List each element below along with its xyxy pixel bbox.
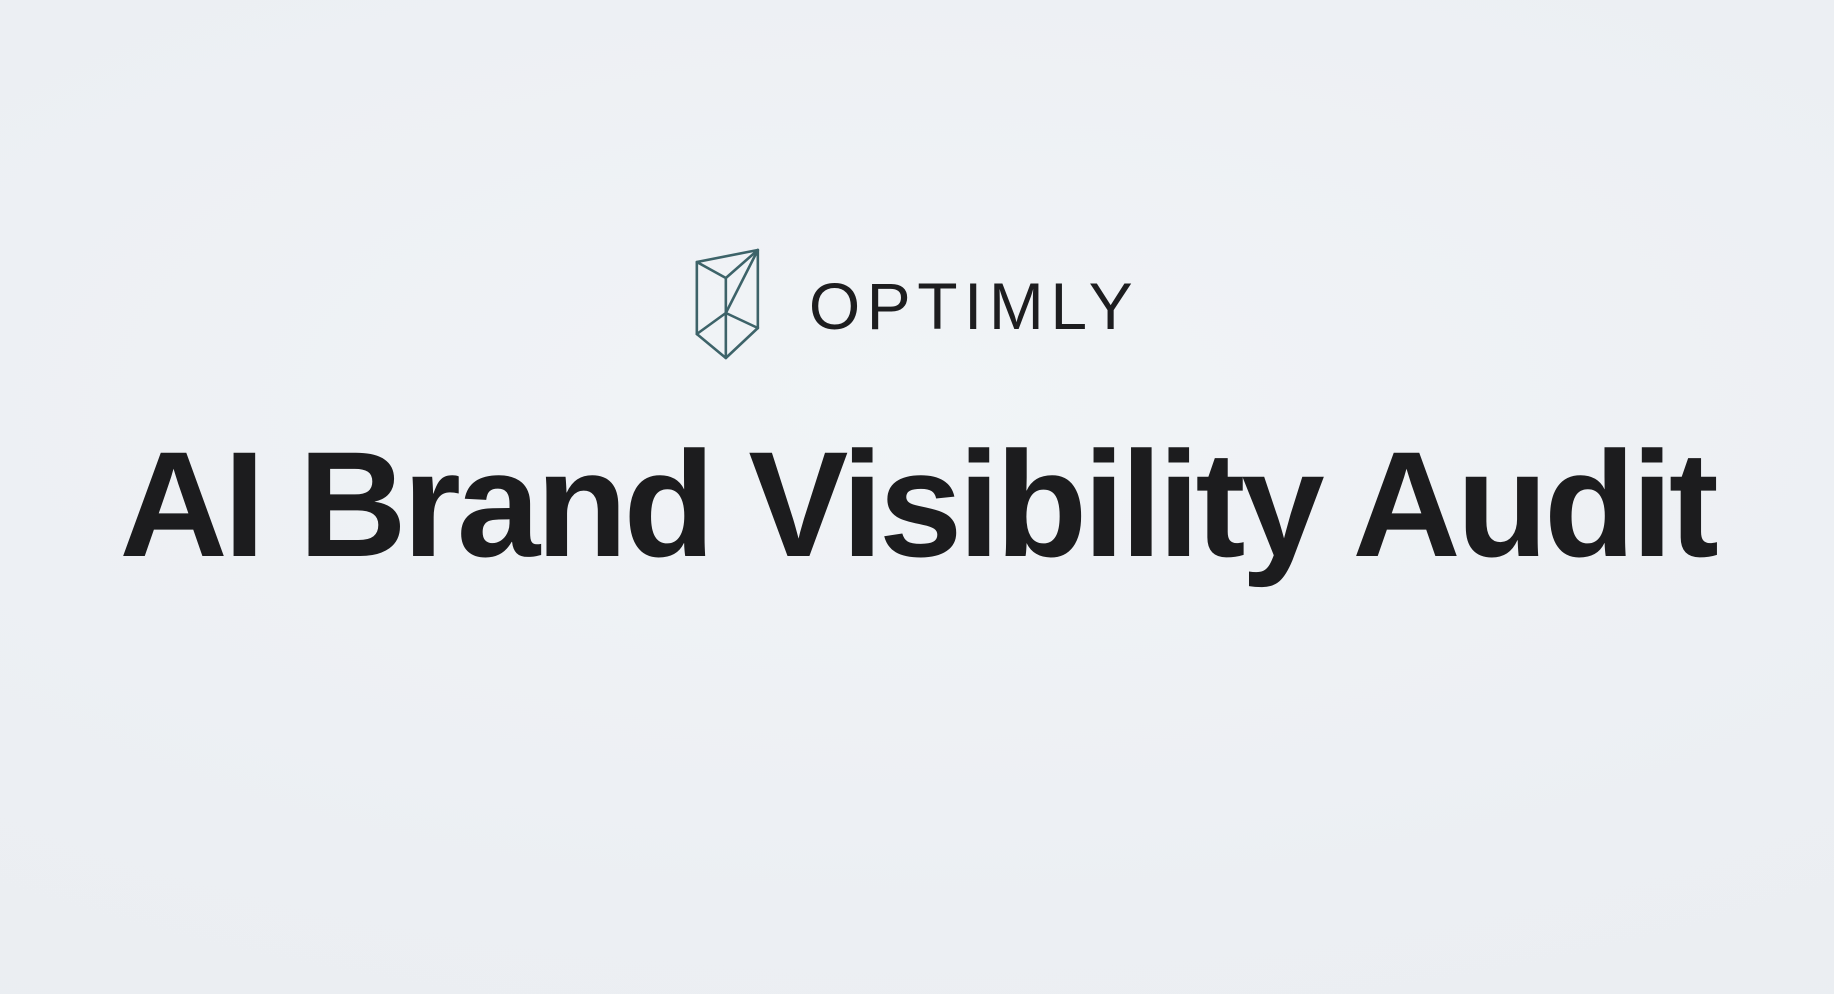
brand-lockup: OPTIMLY	[695, 245, 1139, 363]
title-slide: OPTIMLY AI Brand Visibility Audit	[0, 0, 1834, 994]
page-title: AI Brand Visibility Audit	[0, 424, 1834, 585]
brand-wordmark: OPTIMLY	[809, 273, 1139, 339]
triangular-prism-wireframe-icon	[695, 248, 761, 360]
